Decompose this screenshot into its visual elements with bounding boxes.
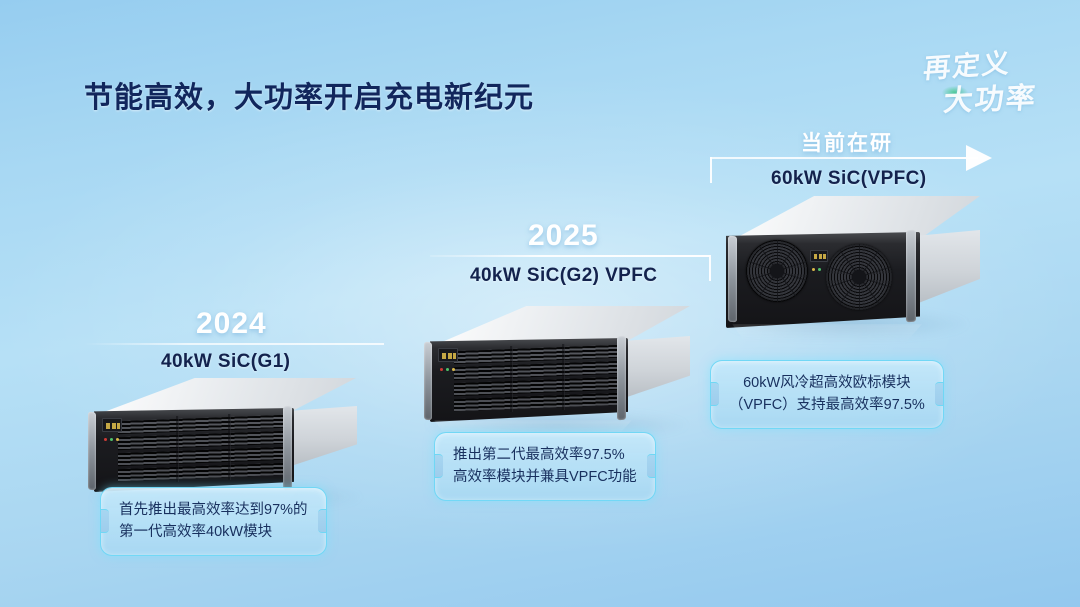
- product-image-vpfc: [712, 196, 980, 342]
- timeline-tick-current: [710, 157, 712, 183]
- timeline-rail-current: [710, 157, 978, 159]
- module-handle-left-g2: [424, 342, 432, 421]
- logo-line-2: 大功率: [942, 74, 1039, 119]
- callout-notch-right: [318, 509, 327, 533]
- callout-current: 60kW风冷超高效欧标模块 （VPFC）支持最高效率97.5%: [710, 360, 944, 429]
- module-display-vpfc: [810, 250, 828, 262]
- timeline-tick-2025: [709, 255, 711, 281]
- module-handle-right-vpfc: [906, 230, 916, 323]
- callout-line-1: 首先推出最高效率达到97%的: [119, 499, 308, 521]
- timeline-model-3: 60kW SiC(VPFC): [771, 168, 927, 190]
- callout-notch-right: [935, 382, 944, 406]
- timeline-rail-2024: [84, 343, 384, 345]
- logo-line-1: 再定义: [922, 41, 1013, 86]
- module-handle-left-vpfc: [728, 236, 737, 323]
- callout-2024: 首先推出最高效率达到97%的 第一代高效率40kW模块: [100, 487, 327, 556]
- timeline-rail-2025: [430, 255, 710, 257]
- timeline-model-1: 40kW SiC(G1): [161, 351, 290, 373]
- callout-notch-right: [647, 454, 656, 478]
- callout-notch-left: [100, 509, 109, 533]
- callout-line-2: （VPFC）支持最高效率97.5%: [729, 394, 925, 416]
- module-handle-right-g2: [617, 336, 626, 420]
- callout-line-1: 推出第二代最高效率97.5%: [453, 444, 637, 466]
- module-display-g2: [438, 348, 458, 362]
- callout-line-2: 高效率模块并兼具VPFC功能: [453, 466, 637, 488]
- callout-notch-left: [434, 454, 443, 478]
- timeline-arrow-icon: [966, 145, 992, 171]
- page-title: 节能高效，大功率开启充电新纪元: [84, 74, 534, 116]
- timeline-period-3: 当前在研: [801, 127, 893, 157]
- logo-glow-accent: [942, 86, 968, 99]
- callout-line-1: 60kW风冷超高效欧标模块: [729, 372, 925, 394]
- timeline-period-2: 2025: [528, 219, 599, 253]
- callout-2025: 推出第二代最高效率97.5% 高效率模块并兼具VPFC功能: [434, 432, 656, 501]
- cooling-fan-left: [746, 240, 808, 302]
- module-handle-left-g1: [88, 412, 96, 491]
- slide-canvas: 节能高效，大功率开启充电新纪元 再定义 大功率 2024 40kW SiC(G1…: [0, 0, 1080, 607]
- module-display-g1: [102, 418, 122, 432]
- timeline-period-1: 2024: [196, 307, 267, 341]
- cooling-fan-right: [826, 244, 892, 310]
- module-handle-right-g1: [283, 406, 292, 490]
- brand-watermark-logo: 再定义 大功率: [906, 42, 1056, 128]
- product-image-g2: [412, 306, 702, 438]
- callout-notch-left: [710, 382, 719, 406]
- callout-line-2: 第一代高效率40kW模块: [119, 521, 308, 543]
- timeline-model-2: 40kW SiC(G2) VPFC: [470, 265, 657, 287]
